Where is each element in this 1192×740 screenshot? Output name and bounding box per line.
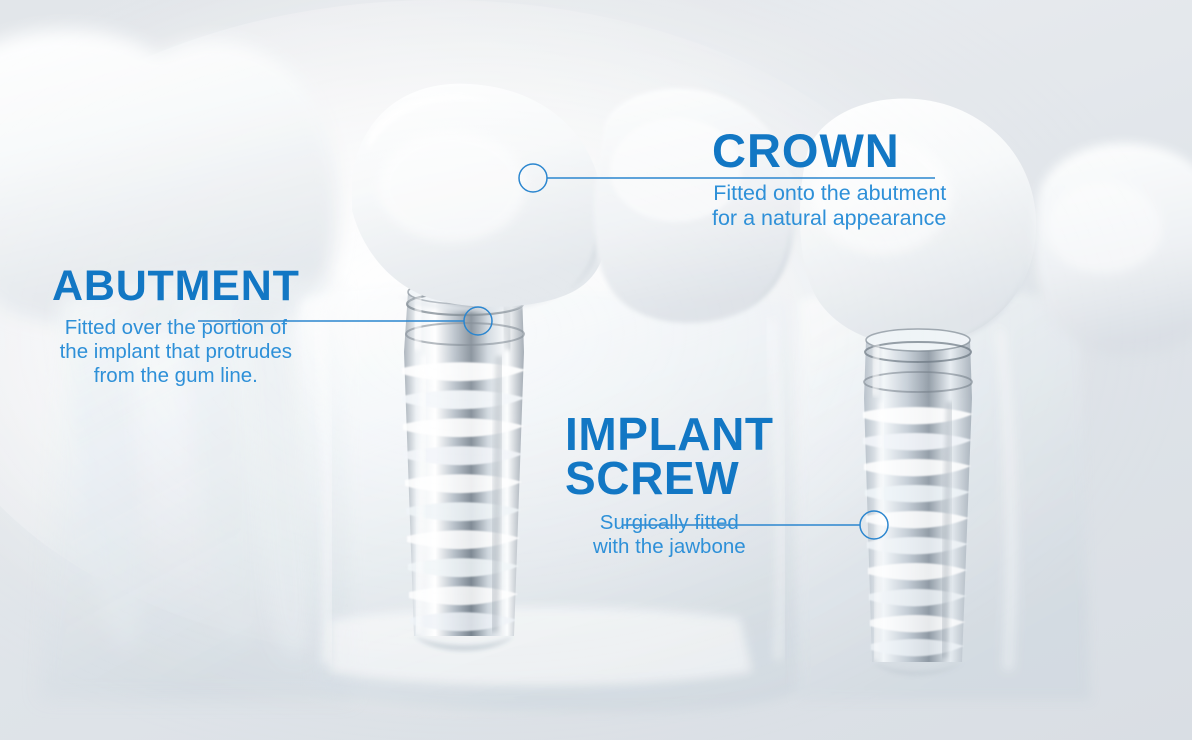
implant-diagram-scene: CROWN Fitted onto the abutment for a nat…: [0, 0, 1192, 740]
abutment-description: Fitted over the portion of the implant t…: [52, 316, 300, 388]
callout-implant-screw: IMPLANT SCREW Surgically fitted with the…: [565, 412, 774, 559]
abutment-heading: ABUTMENT: [52, 266, 300, 307]
implant-screw-heading: IMPLANT SCREW: [565, 412, 774, 500]
implant-screw-heading-line-1: IMPLANT: [565, 412, 774, 456]
crown-description: Fitted onto the abutment for a natural a…: [712, 181, 946, 231]
implant-screw-description: Surgically fitted with the jawbone: [565, 511, 774, 559]
abutment-description-line-2: the implant that protrudes: [52, 340, 300, 364]
abutment-description-line-3: from the gum line.: [52, 364, 300, 388]
implant-screw-description-line-1: Surgically fitted: [565, 511, 774, 535]
implant-screw-description-line-2: with the jawbone: [565, 535, 774, 559]
crown-description-line-2: for a natural appearance: [712, 206, 946, 231]
crown-description-line-1: Fitted onto the abutment: [712, 181, 946, 206]
callout-abutment: ABUTMENT Fitted over the portion of the …: [52, 266, 300, 388]
crown-heading: CROWN: [712, 128, 946, 173]
abutment-description-line-1: Fitted over the portion of: [52, 316, 300, 340]
callout-crown: CROWN Fitted onto the abutment for a nat…: [712, 128, 946, 231]
implant-screw-heading-line-2: SCREW: [565, 456, 774, 500]
